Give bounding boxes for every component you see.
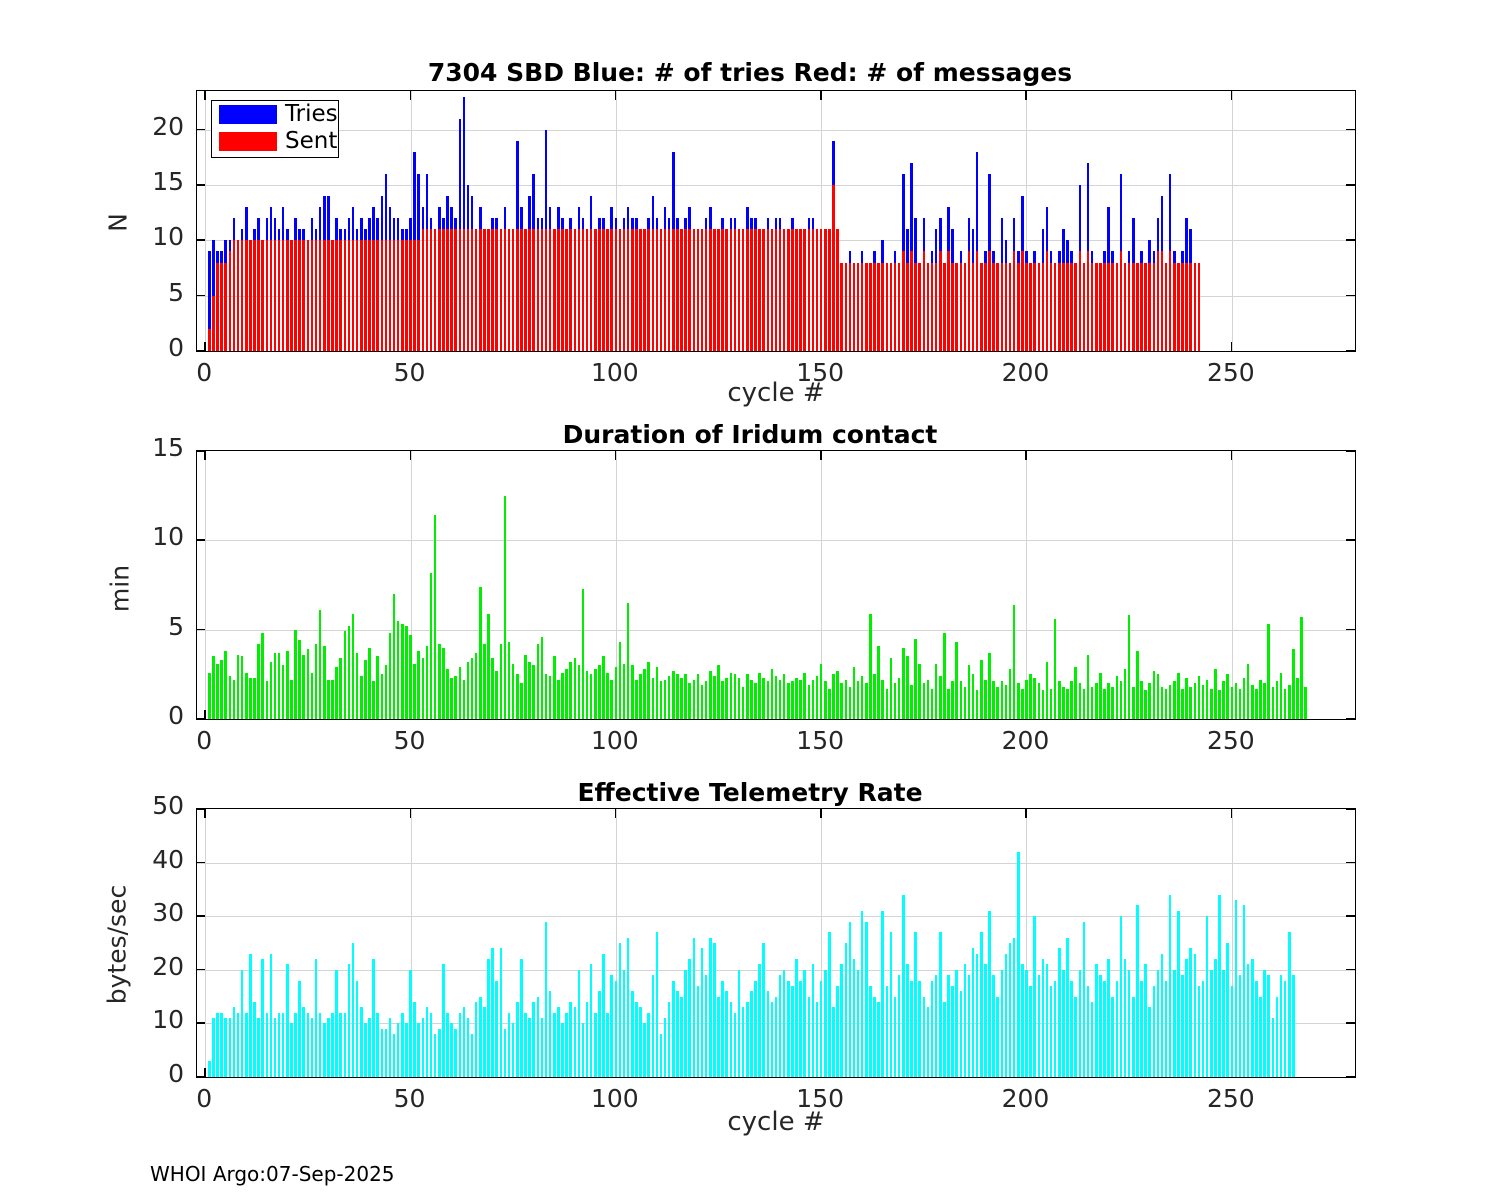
chart-bar bbox=[344, 240, 347, 351]
chart-bar bbox=[1189, 687, 1192, 719]
chart-bar bbox=[775, 997, 778, 1077]
chart-bar bbox=[943, 263, 946, 352]
chart-bar bbox=[266, 1013, 269, 1077]
chart-bar bbox=[1177, 263, 1180, 352]
chart-bar bbox=[680, 997, 683, 1077]
chart-bar bbox=[422, 229, 425, 351]
chart-bar bbox=[1144, 690, 1147, 719]
chart-bar bbox=[372, 681, 375, 719]
chart-bar bbox=[1251, 959, 1254, 1077]
chart-bar bbox=[1095, 683, 1098, 719]
chart-bar bbox=[253, 1002, 256, 1077]
gridline-vertical bbox=[1232, 91, 1233, 351]
chart-bar bbox=[327, 240, 330, 351]
chart-bar bbox=[249, 240, 252, 351]
chart-bar bbox=[828, 689, 831, 719]
chart-bar bbox=[881, 263, 884, 352]
chart-bar bbox=[1259, 680, 1262, 719]
chart-bar bbox=[233, 1007, 236, 1077]
chart-bar bbox=[1128, 615, 1131, 719]
chart-bar bbox=[955, 970, 958, 1077]
chart-bar bbox=[791, 681, 794, 719]
chart-bar bbox=[1140, 263, 1143, 352]
chart-bar bbox=[840, 964, 843, 1077]
chart-bar bbox=[1046, 662, 1049, 719]
chart-bar bbox=[323, 1023, 326, 1077]
chart-bar bbox=[918, 263, 921, 352]
chart-bar bbox=[980, 263, 983, 352]
chart-bar bbox=[586, 1002, 589, 1077]
chart-bar bbox=[582, 229, 585, 351]
chart-bar bbox=[335, 667, 338, 719]
chart-bar bbox=[935, 263, 938, 352]
chart-bar bbox=[1058, 948, 1061, 1077]
chart-bar bbox=[241, 656, 244, 719]
chart-bar bbox=[323, 646, 326, 719]
chart-bar bbox=[610, 680, 613, 719]
chart-bar bbox=[224, 1018, 227, 1077]
chart-bar bbox=[491, 229, 494, 351]
chart-bar bbox=[881, 680, 884, 719]
chart-bar bbox=[1058, 263, 1061, 352]
chart-bar bbox=[307, 1013, 310, 1077]
chart-bar bbox=[364, 240, 367, 351]
chart-bar bbox=[454, 1029, 457, 1077]
chart-bar bbox=[1017, 852, 1020, 1077]
chart-bar bbox=[549, 991, 552, 1077]
chart-bar bbox=[688, 959, 691, 1077]
chart-bar bbox=[516, 229, 519, 351]
chart-bar bbox=[1255, 981, 1258, 1077]
chart-bar bbox=[853, 667, 856, 719]
chart-bar bbox=[927, 680, 930, 719]
chart-bar bbox=[606, 229, 609, 351]
chart-bar bbox=[520, 959, 523, 1077]
chart-bar bbox=[902, 251, 905, 351]
chart-bar bbox=[725, 678, 728, 719]
chart-bar bbox=[1165, 981, 1168, 1077]
x-axis-tick-label: 100 bbox=[575, 358, 655, 387]
chart-bar bbox=[1087, 986, 1090, 1077]
chart-bar bbox=[1276, 681, 1279, 719]
chart-bar bbox=[270, 954, 273, 1077]
chart-bar bbox=[845, 943, 848, 1077]
chart-bar bbox=[438, 644, 441, 719]
chart-bar bbox=[1054, 981, 1057, 1077]
chart-bar bbox=[881, 911, 884, 1077]
chart-bar bbox=[943, 1002, 946, 1077]
chart-bar bbox=[553, 229, 556, 351]
y-axis-tick bbox=[1346, 969, 1355, 971]
chart-bar bbox=[397, 621, 400, 719]
chart-bar bbox=[594, 1013, 597, 1077]
chart-bar bbox=[688, 683, 691, 719]
chart-bar bbox=[647, 1013, 650, 1077]
chart-bar bbox=[249, 678, 252, 719]
chart-bar bbox=[1066, 689, 1069, 719]
chart-bar bbox=[992, 263, 995, 352]
x-axis-tick bbox=[1231, 451, 1233, 460]
chart-bar bbox=[1202, 685, 1205, 719]
legend-swatch-sent bbox=[219, 132, 277, 151]
chart-bar bbox=[1235, 900, 1238, 1077]
chart-bar bbox=[409, 240, 412, 351]
chart-bar bbox=[873, 674, 876, 719]
gridline-vertical bbox=[1232, 451, 1233, 719]
chart-bar bbox=[1042, 263, 1045, 352]
chart-bar bbox=[840, 683, 843, 719]
chart-bar bbox=[504, 1029, 507, 1077]
chart-bar bbox=[680, 229, 683, 351]
chart-bar bbox=[229, 1018, 232, 1077]
chart-bar bbox=[836, 671, 839, 719]
chart-bar bbox=[1161, 687, 1164, 719]
chart-bar bbox=[450, 1023, 453, 1077]
chart-bar bbox=[1214, 959, 1217, 1077]
chart-bar bbox=[865, 263, 868, 352]
chart-bar bbox=[1210, 689, 1213, 719]
chart-bar bbox=[1292, 649, 1295, 719]
chart-bar bbox=[426, 646, 429, 719]
chart-bar bbox=[697, 674, 700, 719]
chart-bar bbox=[344, 1013, 347, 1077]
chart-bar bbox=[853, 263, 856, 352]
y-axis-tick bbox=[1346, 718, 1355, 720]
chart-bar bbox=[1021, 251, 1024, 351]
chart-bar bbox=[1009, 263, 1012, 352]
chart-bar bbox=[968, 251, 971, 351]
chart-bar bbox=[664, 229, 667, 351]
chart-bar bbox=[725, 229, 728, 351]
chart-bar bbox=[857, 681, 860, 719]
chart-bar bbox=[1161, 954, 1164, 1077]
chart-bar bbox=[762, 229, 765, 351]
chart-bar bbox=[955, 263, 958, 352]
chart-bar bbox=[865, 922, 868, 1077]
chart-bar bbox=[717, 229, 720, 351]
chart-bar bbox=[1120, 251, 1123, 351]
y-axis-tick bbox=[1346, 915, 1355, 917]
chart-bar bbox=[643, 1023, 646, 1077]
chart-bar bbox=[1181, 975, 1184, 1077]
chart-bar bbox=[812, 964, 815, 1077]
x-axis-tick-label: 50 bbox=[370, 358, 450, 387]
chart-bar bbox=[1124, 959, 1127, 1077]
gridline-horizontal bbox=[197, 185, 1355, 186]
chart-bar bbox=[783, 229, 786, 351]
chart-bar bbox=[791, 229, 794, 351]
chart-bar bbox=[237, 240, 240, 351]
chart-bar bbox=[1222, 970, 1225, 1077]
chart-bar bbox=[1099, 263, 1102, 352]
chart-bar bbox=[787, 229, 790, 351]
chart-bar bbox=[1284, 689, 1287, 719]
chart-bar bbox=[775, 676, 778, 719]
chart-bar bbox=[742, 687, 745, 719]
chart-bar bbox=[738, 970, 741, 1077]
chart-bar bbox=[914, 932, 917, 1077]
x-axis-tick bbox=[204, 710, 206, 719]
chart-bar bbox=[401, 240, 404, 351]
chart-bar bbox=[393, 1034, 396, 1077]
chart-bar bbox=[767, 681, 770, 719]
chart-bar bbox=[664, 1018, 667, 1077]
chart-bar bbox=[1025, 680, 1028, 719]
legend-item-tries[interactable]: Tries bbox=[212, 101, 338, 128]
chart-bar bbox=[1194, 683, 1197, 719]
chart-bar bbox=[307, 649, 310, 719]
chart-bar bbox=[553, 656, 556, 719]
chart-bar bbox=[619, 642, 622, 719]
chart-bar bbox=[261, 633, 264, 719]
chart-bar bbox=[434, 515, 437, 719]
chart-bar bbox=[1132, 997, 1135, 1077]
chart-bar bbox=[1029, 674, 1032, 719]
chart-bar bbox=[245, 1013, 248, 1077]
chart-bar bbox=[602, 229, 605, 351]
chart-bar bbox=[602, 656, 605, 719]
chart-bar bbox=[914, 263, 917, 352]
chart-bar bbox=[923, 997, 926, 1077]
chart-bar bbox=[697, 986, 700, 1077]
chart-bar bbox=[302, 240, 305, 351]
chart-bar bbox=[1091, 263, 1094, 352]
chart-bar bbox=[808, 997, 811, 1077]
y-axis-tick bbox=[1346, 539, 1355, 541]
chart-bar bbox=[869, 263, 872, 352]
chart-bar bbox=[545, 922, 548, 1077]
chart-bar bbox=[816, 1002, 819, 1077]
chart-bar bbox=[442, 964, 445, 1077]
chart-bar bbox=[639, 1007, 642, 1077]
chart-bar bbox=[233, 240, 236, 351]
chart-bar bbox=[537, 644, 540, 719]
chart-bar bbox=[409, 970, 412, 1077]
chart-bar bbox=[968, 975, 971, 1077]
chart-bar bbox=[947, 251, 950, 351]
chart-bar bbox=[894, 997, 897, 1077]
chart-bar bbox=[578, 970, 581, 1077]
x-axis-tick bbox=[410, 809, 412, 818]
chart-bar bbox=[331, 680, 334, 719]
x-axis-tick bbox=[615, 451, 617, 460]
chart-bar bbox=[537, 997, 540, 1077]
legend[interactable]: Tries Sent bbox=[211, 100, 339, 158]
chart-bar bbox=[574, 229, 577, 351]
chart-bar bbox=[364, 660, 367, 719]
chart-bar bbox=[1042, 690, 1045, 719]
chart-bar bbox=[1214, 669, 1217, 719]
chart-bar bbox=[475, 229, 478, 351]
chart-bar bbox=[397, 240, 400, 351]
y-axis-tick bbox=[1346, 808, 1355, 810]
chart-bar bbox=[955, 642, 958, 719]
chart-bar bbox=[660, 229, 663, 351]
panel-2-title: Duration of Iridum contact bbox=[0, 420, 1500, 449]
chart-bar bbox=[401, 1013, 404, 1077]
chart-bar bbox=[906, 964, 909, 1077]
y-axis-tick-label: 20 bbox=[118, 952, 184, 981]
chart-bar bbox=[1194, 263, 1197, 352]
panel-3-title: Effective Telemetry Rate bbox=[0, 778, 1500, 807]
chart-bar bbox=[393, 594, 396, 719]
chart-bar bbox=[512, 664, 515, 719]
chart-bar bbox=[631, 229, 634, 351]
chart-bar bbox=[910, 251, 913, 351]
chart-bar bbox=[500, 948, 503, 1077]
chart-bar bbox=[652, 229, 655, 351]
chart-bar bbox=[635, 1002, 638, 1077]
chart-bar bbox=[1070, 263, 1073, 352]
chart-bar bbox=[208, 1061, 211, 1077]
chart-bar bbox=[216, 664, 219, 719]
chart-bar bbox=[294, 240, 297, 351]
chart-bar bbox=[1300, 617, 1303, 719]
chart-bar bbox=[1009, 943, 1012, 1077]
chart-bar bbox=[590, 674, 593, 719]
chart-bar bbox=[1177, 911, 1180, 1077]
chart-bar bbox=[557, 680, 560, 719]
chart-bar bbox=[767, 229, 770, 351]
chart-bar bbox=[1189, 263, 1192, 352]
x-axis-tick bbox=[410, 451, 412, 460]
chart-bar bbox=[1140, 681, 1143, 719]
panel-iridium-duration: Duration of Iridum contact min 051015050… bbox=[0, 412, 1500, 757]
chart-bar bbox=[656, 932, 659, 1077]
chart-bar bbox=[918, 981, 921, 1077]
chart-bar bbox=[565, 229, 568, 351]
x-axis-tick-label: 0 bbox=[164, 1084, 244, 1113]
chart-bar bbox=[311, 673, 314, 719]
chart-bar bbox=[988, 251, 991, 351]
chart-bar bbox=[705, 975, 708, 1077]
chart-bar bbox=[1148, 1007, 1151, 1077]
chart-bar bbox=[886, 263, 889, 352]
chart-bar bbox=[311, 240, 314, 351]
chart-bar bbox=[1185, 678, 1188, 719]
chart-bar bbox=[1005, 685, 1008, 719]
y-axis-tick bbox=[1346, 629, 1355, 631]
chart-bar bbox=[450, 229, 453, 351]
chart-bar bbox=[1272, 1018, 1275, 1077]
chart-bar bbox=[857, 970, 860, 1077]
chart-bar bbox=[713, 676, 716, 719]
chart-bar bbox=[586, 229, 589, 351]
chart-bar bbox=[245, 240, 248, 351]
chart-bar bbox=[869, 986, 872, 1077]
chart-bar bbox=[1280, 975, 1283, 1077]
chart-bar bbox=[208, 673, 211, 719]
chart-bar bbox=[266, 681, 269, 719]
chart-bar bbox=[1231, 986, 1234, 1077]
chart-bar bbox=[697, 229, 700, 351]
chart-bar bbox=[799, 229, 802, 351]
chart-bar bbox=[676, 229, 679, 351]
chart-bar bbox=[639, 229, 642, 351]
chart-bar bbox=[721, 229, 724, 351]
chart-bar bbox=[787, 683, 790, 719]
chart-bar bbox=[434, 1034, 437, 1077]
y-axis-tick bbox=[1346, 1022, 1355, 1024]
chart-bar bbox=[734, 229, 737, 351]
chart-bar bbox=[417, 651, 420, 719]
chart-bar bbox=[339, 240, 342, 351]
chart-bar bbox=[684, 229, 687, 351]
chart-bar bbox=[422, 658, 425, 719]
chart-bar bbox=[1288, 685, 1291, 719]
chart-bar bbox=[1079, 251, 1082, 351]
chart-bar bbox=[754, 229, 757, 351]
x-axis-tick bbox=[204, 91, 206, 100]
chart-bar bbox=[220, 263, 223, 352]
chart-bar bbox=[528, 229, 531, 351]
chart-bar bbox=[261, 240, 264, 351]
chart-bar bbox=[266, 240, 269, 351]
chart-bar bbox=[524, 229, 527, 351]
chart-bar bbox=[643, 669, 646, 719]
x-axis-tick bbox=[1231, 809, 1233, 818]
chart-bar bbox=[1194, 954, 1197, 1077]
chart-bar bbox=[1054, 619, 1057, 719]
chart-bar bbox=[1033, 678, 1036, 719]
chart-bar bbox=[426, 229, 429, 351]
chart-bar bbox=[845, 263, 848, 352]
chart-bar bbox=[393, 240, 396, 351]
x-axis-tick bbox=[204, 1068, 206, 1077]
chart-bar bbox=[836, 986, 839, 1077]
chart-bar bbox=[947, 689, 950, 719]
chart-bar bbox=[479, 997, 482, 1077]
chart-bar bbox=[615, 667, 618, 719]
chart-bar bbox=[487, 229, 490, 351]
chart-bar bbox=[212, 1018, 215, 1077]
chart-bar bbox=[237, 655, 240, 719]
x-axis-tick-label: 200 bbox=[985, 1084, 1065, 1113]
chart-bar bbox=[808, 229, 811, 351]
chart-bar bbox=[750, 991, 753, 1077]
chart-bar bbox=[1263, 683, 1266, 719]
chart-bar bbox=[339, 1013, 342, 1077]
chart-bar bbox=[643, 229, 646, 351]
chart-bar bbox=[1136, 651, 1139, 719]
chart-bar bbox=[249, 954, 252, 1077]
chart-bar bbox=[356, 240, 359, 351]
chart-bar bbox=[750, 680, 753, 719]
chart-bar bbox=[561, 229, 564, 351]
chart-bar bbox=[1033, 916, 1036, 1077]
chart-bar bbox=[401, 624, 404, 719]
chart-bar bbox=[877, 646, 880, 719]
chart-bar bbox=[894, 683, 897, 719]
y-axis-tick-label: 50 bbox=[118, 791, 184, 820]
chart-bar bbox=[623, 970, 626, 1077]
chart-bar bbox=[430, 1013, 433, 1077]
chart-bar bbox=[902, 648, 905, 719]
x-axis-tick-label: 50 bbox=[370, 726, 450, 755]
gridline-horizontal bbox=[197, 916, 1355, 917]
x-axis-tick-label: 150 bbox=[780, 1084, 860, 1113]
chart-bar bbox=[1107, 683, 1110, 719]
chart-bar bbox=[245, 673, 248, 719]
chart-bar bbox=[923, 683, 926, 719]
legend-item-sent[interactable]: Sent bbox=[212, 128, 338, 155]
chart-bar bbox=[463, 229, 466, 351]
chart-bar bbox=[771, 669, 774, 719]
chart-bar bbox=[1239, 975, 1242, 1077]
chart-bar bbox=[438, 1029, 441, 1077]
chart-bar bbox=[746, 229, 749, 351]
y-axis-tick-label: 10 bbox=[118, 222, 184, 251]
